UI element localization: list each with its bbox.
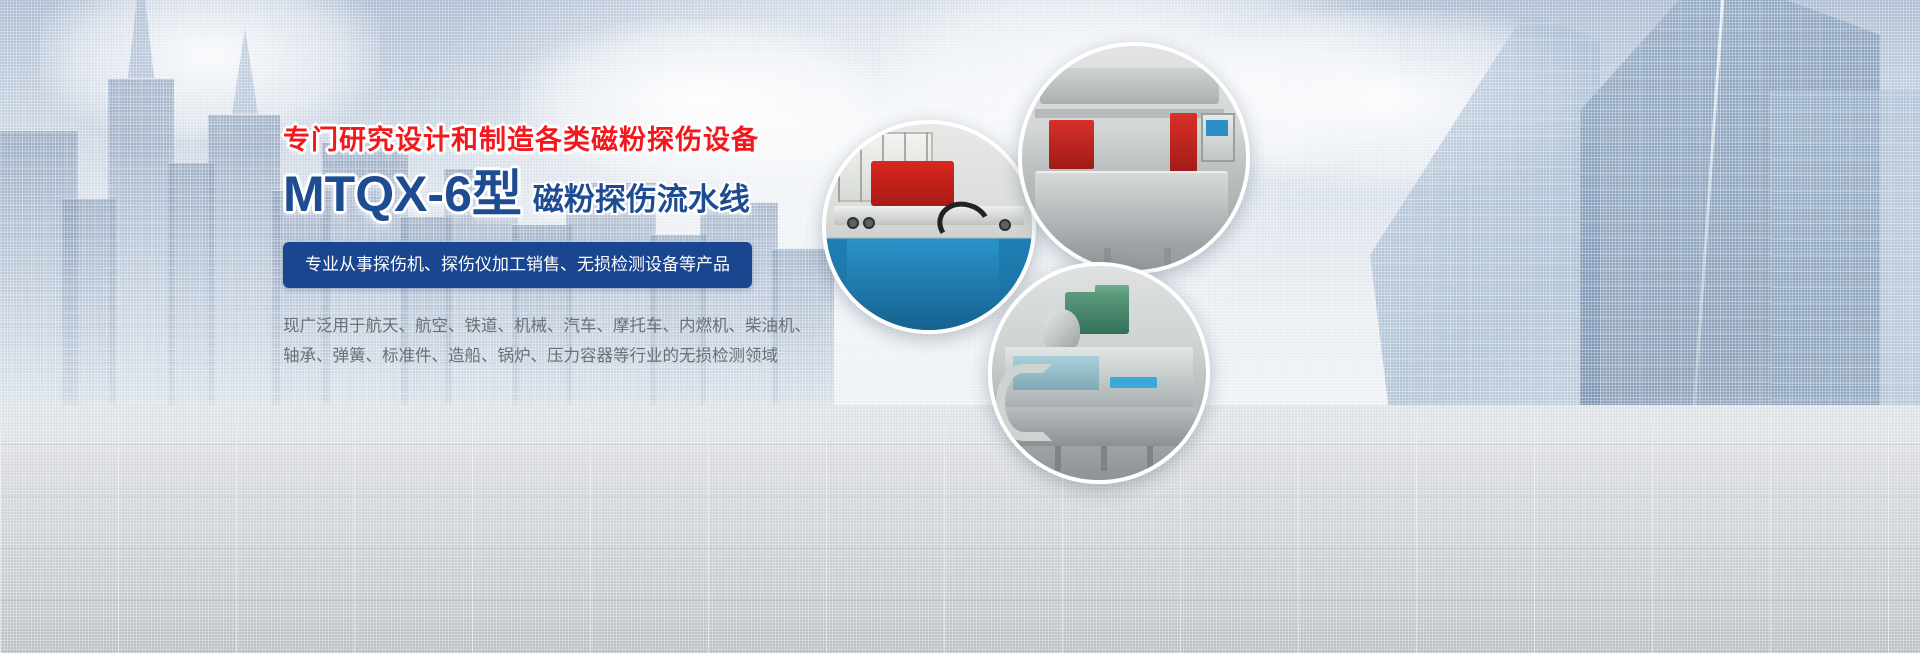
photo-red-column bbox=[1170, 113, 1197, 176]
photo-legs bbox=[1044, 248, 1219, 266]
photo-knob bbox=[863, 217, 875, 229]
photo-cyan-strip bbox=[1110, 377, 1157, 388]
banner-description: 现广泛用于航天、航空、铁道、机械、汽车、摩托车、内燃机、柴油机、 轴承、弹簧、标… bbox=[283, 311, 803, 372]
description-line-1: 现广泛用于航天、航空、铁道、机械、汽车、摩托车、内燃机、柴油机、 bbox=[283, 311, 803, 342]
banner-tagline-pill[interactable]: 专业从事探伤机、探伤仪加工销售、无损检测设备等产品 bbox=[283, 242, 752, 288]
photo-tank bbox=[1035, 171, 1228, 247]
banner-headline: 专门研究设计和制造各类磁粉探伤设备 bbox=[283, 126, 803, 156]
photo-content bbox=[992, 266, 1206, 480]
photo-curved-rail bbox=[996, 364, 1052, 441]
photo-drum bbox=[1043, 309, 1079, 352]
ground-horizon-fade bbox=[0, 405, 1920, 465]
plaza-ground bbox=[0, 405, 1920, 653]
photo-hood bbox=[1040, 68, 1219, 104]
building bbox=[108, 78, 174, 430]
product-photo-inspection-cabinet bbox=[1018, 42, 1250, 274]
product-photo-conveyor-line bbox=[988, 262, 1210, 484]
photo-knob bbox=[847, 217, 859, 229]
photo-content bbox=[1022, 46, 1246, 270]
photo-panel-screen bbox=[1206, 120, 1228, 136]
photo-red-unit bbox=[1049, 120, 1094, 169]
photo-blue-body bbox=[847, 239, 999, 330]
photo-knob bbox=[999, 219, 1011, 231]
building bbox=[208, 114, 280, 430]
banner-title-row: MTQX-6型 磁粉探伤流水线 bbox=[283, 169, 803, 219]
tower-spire bbox=[232, 28, 258, 114]
banner-title-product: 磁粉探伤流水线 bbox=[533, 184, 750, 219]
description-line-2: 轴承、弹簧、标准件、造船、锅炉、压力容器等行业的无损检测领域 bbox=[283, 341, 803, 372]
photo-red-hood bbox=[871, 161, 953, 206]
photo-legs bbox=[1009, 446, 1189, 472]
tower-spire bbox=[128, 0, 154, 78]
banner-title-model: MTQX-6型 bbox=[283, 169, 522, 219]
banner-copy: 专门研究设计和制造各类磁粉探伤设备 MTQX-6型 磁粉探伤流水线 专业从事探伤… bbox=[283, 126, 803, 372]
promo-banner: 专门研究设计和制造各类磁粉探伤设备 MTQX-6型 磁粉探伤流水线 专业从事探伤… bbox=[0, 0, 1920, 653]
